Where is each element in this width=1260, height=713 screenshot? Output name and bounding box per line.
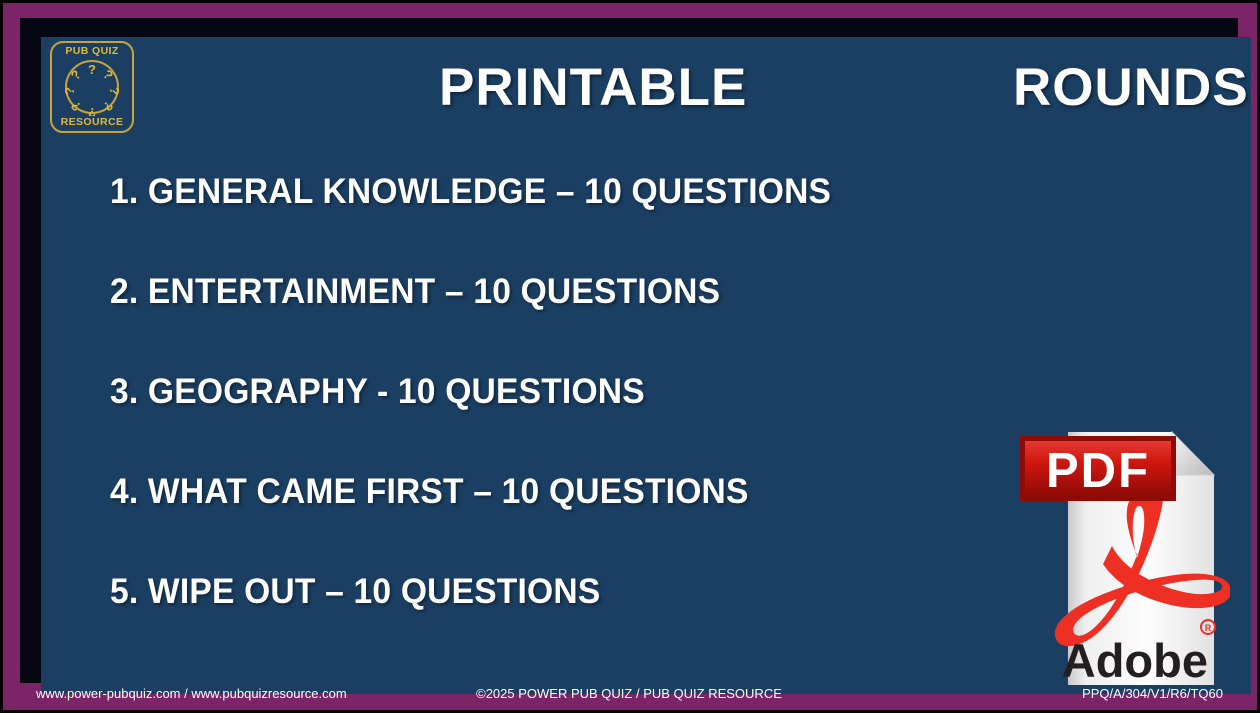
footer-bar: www.power-pubquiz.com / www.pubquizresou…: [20, 680, 1238, 707]
purple-frame-border: PUB QUIZ ? ? ? ? ? ? ?: [3, 3, 1257, 710]
list-item: 2. ENTERTAINMENT – 10 QUESTIONS: [110, 242, 974, 342]
svg-text:PDF: PDF: [1046, 444, 1150, 498]
poster-root: PUB QUIZ ? ? ? ? ? ? ?: [0, 0, 1260, 713]
adobe-pdf-document-icon[interactable]: R Adobe PDF: [1012, 419, 1230, 685]
svg-text:Adobe: Adobe: [1062, 634, 1208, 685]
logo-top-label: PUB QUIZ: [65, 46, 118, 57]
rounds-list: 1. GENERAL KNOWLEDGE – 10 QUESTIONS 2. E…: [110, 142, 1010, 642]
list-item: 4. WHAT CAME FIRST – 10 QUESTIONS: [110, 442, 974, 542]
svg-text:R: R: [1205, 623, 1212, 633]
inner-black-keyline: PUB QUIZ ? ? ? ? ? ? ?: [20, 18, 1238, 683]
footer-reference-code: PPQ/A/304/V1/R6/TQ60: [1082, 686, 1223, 701]
page-title-rounds: ROUNDS: [1013, 57, 1249, 118]
header-row: PRINTABLE ROUNDS: [41, 57, 1251, 127]
page-title-printable: PRINTABLE: [439, 57, 747, 118]
list-item: 5. WIPE OUT – 10 QUESTIONS: [110, 542, 974, 642]
footer-copyright: ©2025 POWER PUB QUIZ / PUB QUIZ RESOURCE: [20, 686, 1238, 701]
list-item: 1. GENERAL KNOWLEDGE – 10 QUESTIONS: [110, 142, 974, 242]
list-item: 3. GEOGRAPHY - 10 QUESTIONS: [110, 342, 974, 442]
main-navy-panel: PUB QUIZ ? ? ? ? ? ? ?: [41, 37, 1251, 694]
